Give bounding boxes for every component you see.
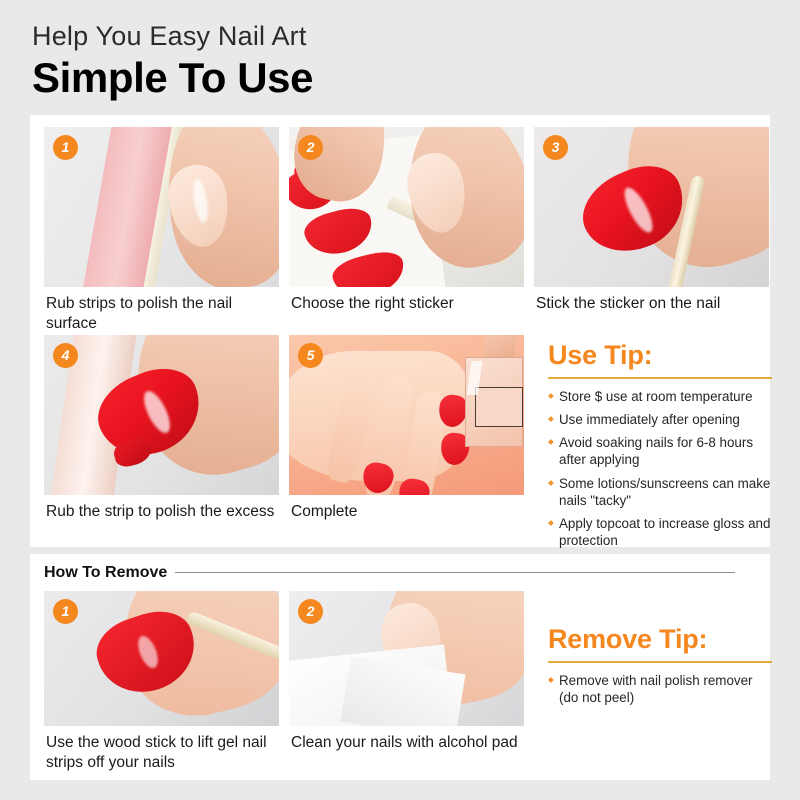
step-item-1: 1 Rub strips to polish the nail surface <box>44 127 279 335</box>
header-kicker: Help You Easy Nail Art <box>32 22 800 52</box>
step-3-photo: 3 <box>534 127 769 287</box>
page-header: Help You Easy Nail Art Simple To Use <box>0 0 800 101</box>
remove-section-divider <box>175 572 735 573</box>
apply-sticker-scene <box>534 127 769 287</box>
step-badge-4: 4 <box>53 343 78 368</box>
step-badge-1: 1 <box>53 135 78 160</box>
step-1-photo: 1 <box>44 127 279 287</box>
step-4-photo: 4 <box>44 335 279 495</box>
use-steps-row-1: 1 Rub strips to polish the nail surface … <box>44 127 756 335</box>
step-caption-4: Rub the strip to polish the excess <box>44 495 279 539</box>
page-title: Simple To Use <box>32 54 800 101</box>
lift-strip-scene <box>44 591 279 726</box>
step-item-5: 5 Complete <box>289 335 524 556</box>
step-badge-5: 5 <box>298 343 323 368</box>
step-badge-3: 3 <box>543 135 568 160</box>
use-tip-divider <box>548 377 772 379</box>
step-badge-2: 2 <box>298 135 323 160</box>
step-item-3: 3 Stick the sticker on the nail <box>534 127 769 335</box>
remove-step-item-1: 1 Use the wood stick to lift gel nail st… <box>44 591 279 774</box>
complete-hand-scene <box>289 335 524 495</box>
step-5-photo: 5 <box>289 335 524 495</box>
remove-step-item-2: 2 Clean your nails with alcohol pad <box>289 591 524 774</box>
use-tip-item: Some lotions/sunscreens can make nails "… <box>548 475 772 509</box>
bottle-label-shape <box>475 387 523 427</box>
step-item-2: 2 Choose the right sticker <box>289 127 524 335</box>
remove-tip-title: Remove Tip: <box>548 625 772 655</box>
step-caption-2: Choose the right sticker <box>289 287 524 331</box>
use-tip-list: Store $ use at room temperature Use imme… <box>548 388 772 549</box>
use-steps-row-2: 4 Rub the strip to polish the excess <box>44 335 756 556</box>
use-tip-item: Use immediately after opening <box>548 411 772 428</box>
how-to-remove-card: How To Remove 1 Use the wood stick to li… <box>30 554 770 780</box>
remove-tip-divider <box>548 661 772 663</box>
step-caption-3: Stick the sticker on the nail <box>534 287 769 331</box>
use-tip-item: Apply topcoat to increase gloss and prot… <box>548 515 772 549</box>
use-tip-item: Avoid soaking nails for 6-8 hours after … <box>548 434 772 468</box>
remove-step-2-photo: 2 <box>289 591 524 726</box>
remove-step-1-photo: 1 <box>44 591 279 726</box>
remove-step-badge-2: 2 <box>298 599 323 624</box>
remove-tip-box: Remove Tip: Remove with nail polish remo… <box>534 591 772 774</box>
use-tip-box: Use Tip: Store $ use at room temperature… <box>534 335 772 556</box>
step-caption-5: Complete <box>289 495 524 539</box>
nail-file-scene <box>44 127 279 287</box>
remove-tip-item: Remove with nail polish remover (do not … <box>548 672 772 706</box>
how-to-use-card: 1 Rub strips to polish the nail surface … <box>30 115 770 547</box>
step-caption-1: Rub strips to polish the nail surface <box>44 287 279 335</box>
remove-steps-row: 1 Use the wood stick to lift gel nail st… <box>44 591 756 774</box>
use-tip-item: Store $ use at room temperature <box>548 388 772 405</box>
remove-step-caption-2: Clean your nails with alcohol pad <box>289 726 524 770</box>
remove-section-header: How To Remove <box>44 564 756 582</box>
alcohol-pad-scene <box>289 591 524 726</box>
sticker-sheet-scene <box>289 127 524 287</box>
remove-step-badge-1: 1 <box>53 599 78 624</box>
remove-section-label: How To Remove <box>44 564 167 582</box>
remove-step-caption-1: Use the wood stick to lift gel nail stri… <box>44 726 279 774</box>
use-tip-title: Use Tip: <box>548 341 772 371</box>
polish-excess-scene <box>44 335 279 495</box>
step-item-4: 4 Rub the strip to polish the excess <box>44 335 279 556</box>
remove-tip-list: Remove with nail polish remover (do not … <box>548 672 772 706</box>
step-2-photo: 2 <box>289 127 524 287</box>
